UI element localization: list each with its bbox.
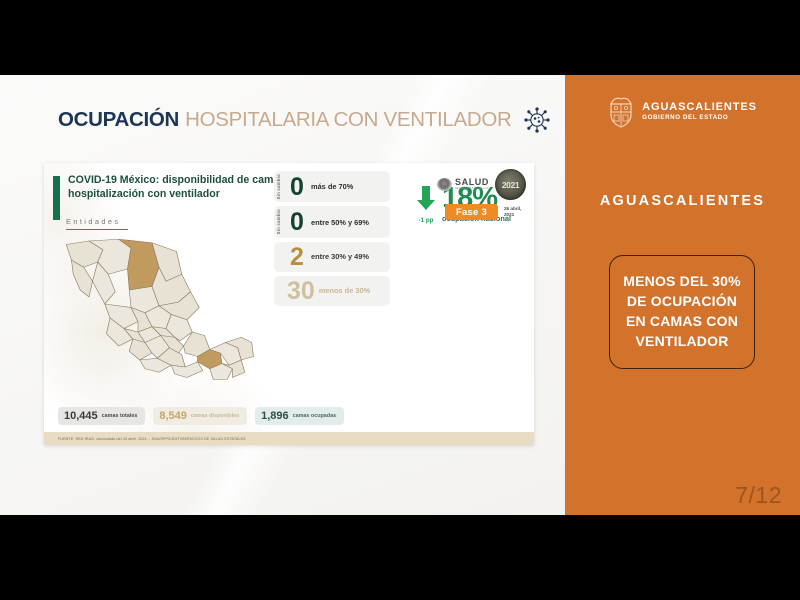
source-text: FUENTE: RED IRAG, acumulado del 25 abril… [58,437,246,441]
stat-number: 0 [287,176,307,198]
occupancy-stats-list: Sin cambio 0 más de 70% Sin cambio 0 ent… [274,171,390,306]
covid-slide-card: COVID-19 México: disponibilidad de camas… [44,163,534,445]
brand-block: SALUD SECRETARÍA DE SALUD 2021 Fase 3 26… [437,169,526,220]
stat-label: entre 30% y 49% [311,252,369,261]
coronavirus-icon [524,107,550,133]
beds-pill: 1,896 camas ocupadas [255,407,344,425]
stat-number: 2 [287,246,307,268]
national-change: -1 pp [419,217,434,224]
beds-value: 1,896 [261,410,289,422]
callout-text: MENOS DEL 30% DE OCUPACIÓN EN CAMAS CON … [623,273,741,349]
callout-box: MENOS DEL 30% DE OCUPACIÓN EN CAMAS CON … [609,255,755,369]
crest-subtitle: GOBIERNO DEL ESTADO [642,115,757,122]
green-accent-bar [53,176,60,220]
page-title-sub: HOSPITALARIA CON VENTILADOR [185,108,511,132]
salud-logo: SALUD SECRETARÍA DE SALUD [437,178,489,191]
entidades-label: Entidades [66,217,128,230]
slide-content-area: OCUPACIÓN HOSPITALARIA CON VENTILADOR [0,75,800,515]
year-seal-icon: 2021 [495,169,526,200]
government-branding: AGUASCALIENTES GOBIERNO DEL ESTADO [565,95,800,128]
stat-row: 30 menos de 30% [274,276,390,306]
stat-label: menos de 30% [319,286,370,295]
aguascalientes-coat-of-arms-icon [608,95,634,128]
state-name: AGUASCALIENTES [565,193,800,209]
mexico-map [54,225,264,390]
stat-number: 0 [287,211,307,233]
screenshot-stage: OCUPACIÓN HOSPITALARIA CON VENTILADOR [0,0,800,600]
eagle-emblem-icon [437,178,452,191]
down-arrow-icon [416,185,436,216]
page-number: 7/12 [735,482,782,509]
page-title-main: OCUPACIÓN [58,108,179,132]
beds-label: camas totales [102,413,138,420]
slide-date: 26 abril, 2021 [504,206,526,217]
fase-badge: Fase 3 [445,204,498,220]
right-info-panel: AGUASCALIENTES GOBIERNO DEL ESTADO AGUAS… [565,75,800,515]
beds-value: 8,549 [159,410,187,422]
stat-side-note: Sin cambio [276,174,283,199]
beds-summary-bar: 10,445 camas totales 8,549 camas disponi… [58,407,344,425]
salud-label: SALUD [455,178,489,187]
stat-row: 2 entre 30% y 49% [274,242,390,272]
beds-label: camas ocupadas [293,413,336,420]
stat-row: Sin cambio 0 entre 50% y 69% [274,206,390,237]
beds-value: 10,445 [64,410,98,422]
source-footnote-bar: FUENTE: RED IRAG, acumulado del 25 abril… [44,432,534,445]
beds-pill: 10,445 camas totales [58,407,145,425]
stat-side-note: Sin cambio [276,209,283,234]
stat-number: 30 [287,280,315,302]
salud-sublabel: SECRETARÍA DE SALUD [455,188,489,191]
stat-label: entre 50% y 69% [311,218,369,227]
left-slide-region: OCUPACIÓN HOSPITALARIA CON VENTILADOR [0,75,565,515]
beds-pill: 8,549 camas disponibles [153,407,247,425]
beds-label: camas disponibles [191,413,239,420]
stat-row: Sin cambio 0 más de 70% [274,171,390,202]
crest-title: AGUASCALIENTES [642,101,757,113]
page-header: OCUPACIÓN HOSPITALARIA CON VENTILADOR [0,75,565,165]
stat-label: más de 70% [311,182,353,191]
